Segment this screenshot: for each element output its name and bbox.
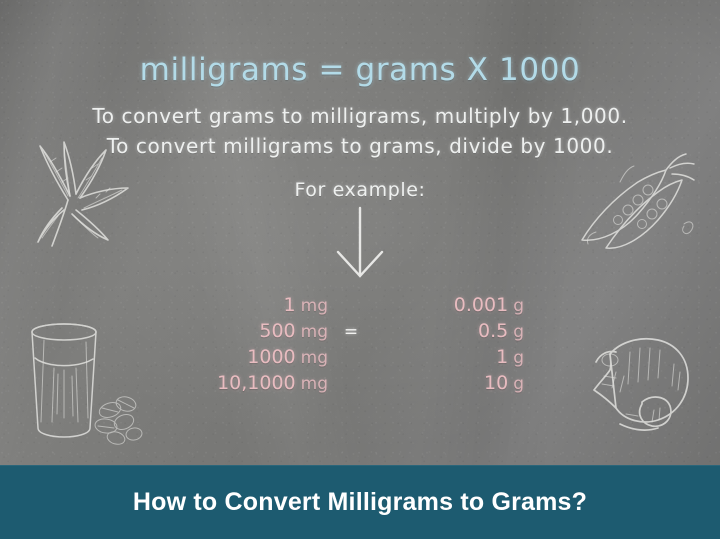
g-value: 1	[446, 346, 508, 368]
g-unit: g	[513, 348, 524, 368]
g-unit: g	[513, 374, 524, 394]
mg-cell: 1mg	[150, 294, 328, 316]
chalkboard-texture	[0, 0, 720, 539]
mg-unit: mg	[301, 296, 328, 316]
g-value: 10	[446, 372, 508, 394]
g-cell: 1g	[374, 346, 524, 368]
banner-title: How to Convert Milligrams to Grams?	[133, 488, 587, 517]
g-unit: g	[513, 322, 524, 342]
table-row: 500mg = 0.5g	[150, 320, 580, 346]
conversion-table: 1mg 0.001g 500mg = 0.5g 1000mg 1g	[150, 294, 580, 398]
mg-value: 10,1000	[217, 372, 296, 394]
instruction-line-2: To convert milligrams to grams, divide b…	[0, 134, 720, 158]
mg-cell: 500mg	[150, 320, 328, 342]
g-unit: g	[513, 296, 524, 316]
leaf-sprig-drawing	[6, 118, 146, 258]
mg-unit: mg	[301, 322, 328, 342]
bottom-banner: How to Convert Milligrams to Grams?	[0, 465, 720, 539]
g-cell: 0.5g	[374, 320, 524, 342]
table-row: 1000mg 1g	[150, 346, 580, 372]
table-row: 1mg 0.001g	[150, 294, 580, 320]
pea-pods-drawing	[566, 148, 706, 258]
g-cell: 10g	[374, 372, 524, 394]
g-cell: 0.001g	[374, 294, 524, 316]
mg-cell: 1000mg	[150, 346, 328, 368]
mg-value: 1000	[247, 346, 295, 368]
mg-unit: mg	[301, 374, 328, 394]
mg-value: 1	[284, 294, 296, 316]
mg-unit: mg	[301, 348, 328, 368]
water-glass-and-pills-drawing	[14, 318, 144, 448]
mg-cell: 10,1000mg	[150, 372, 328, 394]
mg-value: 500	[259, 320, 295, 342]
down-arrow-icon	[330, 206, 390, 284]
equals-symbol: =	[328, 322, 374, 342]
page-title: milligrams = grams X 1000	[0, 52, 720, 88]
instruction-line-1: To convert grams to milligrams, multiply…	[0, 104, 720, 128]
ginger-root-drawing	[586, 328, 706, 448]
for-example-label: For example:	[0, 179, 720, 201]
g-value: 0.5	[446, 320, 508, 342]
table-row: 10,1000mg 10g	[150, 372, 580, 398]
g-value: 0.001	[446, 294, 508, 316]
chalkboard-slide: milligrams = grams X 1000 To convert gra…	[0, 0, 720, 539]
chalkboard-smudges	[0, 0, 720, 539]
